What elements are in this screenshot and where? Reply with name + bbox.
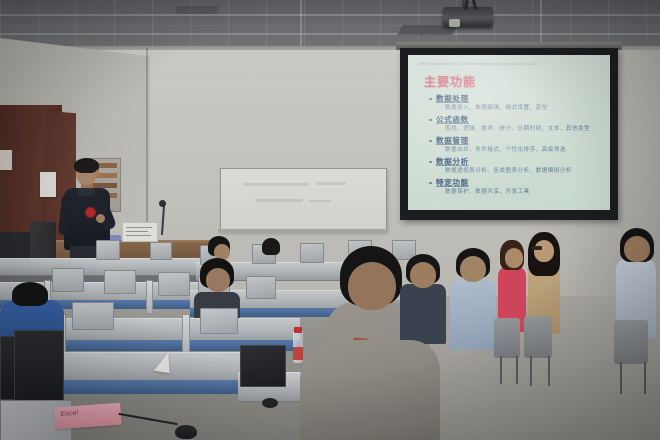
monitor-rear xyxy=(104,270,136,294)
student-head xyxy=(624,236,650,262)
whiteboard-marking xyxy=(255,199,303,202)
student-head xyxy=(534,240,554,262)
bottle-cap xyxy=(294,327,302,333)
document-line xyxy=(126,235,151,236)
whiteboard-marking xyxy=(243,183,309,186)
student-hair xyxy=(12,282,48,306)
document-line xyxy=(126,227,152,228)
bullet-heading: 数据分析 xyxy=(428,156,606,167)
student-head xyxy=(410,262,436,288)
slide-bullet-item: 公式函数 查找、逻辑、数学、统计、日期时间、文本、其他类型 xyxy=(428,114,606,134)
slide-title: 主要功能 xyxy=(424,73,476,90)
ceiling-seam xyxy=(0,14,660,16)
instructor-shirt-logo xyxy=(85,207,96,218)
ceiling-projector xyxy=(443,7,493,27)
whiteboard-marking xyxy=(309,200,331,202)
slide-bullet-item: 数据分析 数据透视表分析、各类图表分析、数据模拟分析 xyxy=(428,156,606,176)
desk-label-text: Excel xyxy=(61,410,79,418)
student-hair xyxy=(262,238,280,255)
bullet-heading: 数据管理 xyxy=(428,135,606,146)
computer-mouse-secondary[interactable] xyxy=(262,398,278,408)
projection-screen: Office Business Excel | Data Management … xyxy=(400,48,618,220)
bullet-subtext: 数据保护、数据共享、开发工具 xyxy=(428,188,606,197)
monitor-rear xyxy=(150,242,172,260)
monitor-rear xyxy=(96,240,120,260)
student-torso xyxy=(300,340,440,440)
student-eyeglasses xyxy=(532,246,542,250)
chair-leg xyxy=(500,356,502,384)
bullet-subtext: 查找、逻辑、数学、统计、日期时间、文本、其他类型 xyxy=(428,125,606,134)
bullet-subtext: 数据录入、数据编辑、格式设置、定位 xyxy=(428,104,606,113)
podium-document xyxy=(122,222,158,242)
workstation-divider xyxy=(146,280,153,314)
bullet-subtext: 数据合并、条件格式、个性化排序、高级筛选 xyxy=(428,146,606,155)
projector-lens xyxy=(449,19,460,27)
monitor-front-main[interactable] xyxy=(14,330,64,404)
monitor-rear xyxy=(52,268,84,292)
ceiling-seam xyxy=(300,0,302,52)
slide-header-text: Office Business Excel | Data Management … xyxy=(418,62,598,66)
folded-paper xyxy=(154,351,173,373)
monitor-rear xyxy=(158,272,190,296)
desk-label: Excel xyxy=(54,403,121,430)
chair-leg xyxy=(548,356,550,386)
podium-computer-tower xyxy=(30,222,56,258)
chair-leg xyxy=(644,362,646,394)
student-head xyxy=(460,256,486,282)
student-head xyxy=(206,268,230,292)
bullet-heading: 数据处理 xyxy=(428,93,606,104)
whiteboard xyxy=(220,168,387,232)
student-head xyxy=(348,262,396,310)
chair[interactable] xyxy=(614,320,648,364)
instructor-hand xyxy=(96,214,105,223)
bottle-label xyxy=(293,347,303,360)
whiteboard-marking xyxy=(316,182,346,185)
classroom-photo: Office Business Excel | Data Management … xyxy=(0,0,660,440)
student-head xyxy=(505,248,523,268)
ceiling-panel xyxy=(176,6,218,14)
projected-slide: Office Business Excel | Data Management … xyxy=(408,55,610,210)
bullet-subtext: 数据透视表分析、各类图表分析、数据模拟分析 xyxy=(428,167,606,176)
instructor-ear xyxy=(95,170,100,177)
chair-leg xyxy=(530,356,532,386)
monitor-rear xyxy=(300,243,324,263)
bullet-heading: 特定功能 xyxy=(428,177,606,188)
wall-corner xyxy=(146,48,148,248)
document-line xyxy=(126,231,148,232)
instructor-collar xyxy=(78,188,95,197)
wall-notice-paper xyxy=(0,150,12,170)
student-torso xyxy=(450,280,496,350)
microphone-head xyxy=(159,200,166,207)
workstation-divider xyxy=(182,314,190,356)
door-notice-paper xyxy=(40,172,56,197)
chair-leg xyxy=(620,362,622,394)
slide-bullet-item: 特定功能 数据保护、数据共享、开发工具 xyxy=(428,177,606,197)
monitor-rear xyxy=(246,276,276,299)
slide-bullet-list: 数据处理 数据录入、数据编辑、格式设置、定位 公式函数 查找、逻辑、数学、统计、… xyxy=(428,93,606,198)
computer-mouse[interactable] xyxy=(175,425,197,439)
monitor-front-right[interactable] xyxy=(240,345,286,387)
chair-leg xyxy=(516,356,518,384)
slide-bullet-item: 数据管理 数据合并、条件格式、个性化排序、高级筛选 xyxy=(428,135,606,155)
student-torso xyxy=(400,284,446,344)
whiteboard-tray xyxy=(218,229,387,233)
ceiling-seam xyxy=(0,33,660,35)
monitor-rear xyxy=(72,302,114,330)
bullet-heading: 公式函数 xyxy=(428,114,606,125)
slide-bullet-item: 数据处理 数据录入、数据编辑、格式设置、定位 xyxy=(428,93,606,113)
monitor-rear xyxy=(200,308,238,334)
chair[interactable] xyxy=(494,318,520,358)
